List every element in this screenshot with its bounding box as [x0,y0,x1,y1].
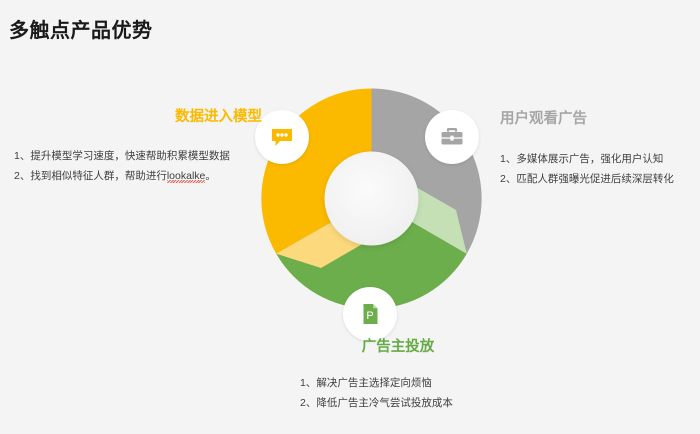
step-heading-advertiser-delivery: 广告主投放 [288,338,508,356]
donut-hole [325,152,419,246]
step-block-user-views-ad: 用户观看广告 1、多媒体展示广告，强化用户认知 2、匹配人群强曝光促进后续深层转… [500,110,700,189]
list-item: 2、匹配人群强曝光促进后续深层转化 [500,169,700,189]
list-item: 1、提升模型学习速度，快速帮助积累模型数据 [14,146,264,166]
step-list-data-into-model: 1、提升模型学习速度，快速帮助积累模型数据 2、找到相似特征人群，帮助进行loo… [14,146,264,186]
step-list-user-views-ad: 1、多媒体展示广告，强化用户认知 2、匹配人群强曝光促进后续深层转化 [500,149,700,189]
step-block-advertiser-delivery: 广告主投放 1、解决广告主选择定向烦恼 2、降低广告主冷气尝试投放成本 [288,338,508,413]
step-heading-user-views-ad: 用户观看广告 [500,110,700,128]
step-heading-data-into-model: 数据进入模型 [14,108,262,126]
list-item: 2、降低广告主冷气尝试投放成本 [300,393,508,413]
document-p-icon: P [357,301,383,327]
list-item: 2、找到相似特征人群，帮助进行lookalke。 [14,166,264,186]
briefcase-icon-badge[interactable] [425,110,479,164]
list-item: 1、解决广告主选择定向烦恼 [300,373,508,393]
list-item-text: 2、找到相似特征人群，帮助进行lookalke。 [14,170,216,182]
document-p-icon-badge[interactable]: P [343,287,397,341]
briefcase-icon [439,124,465,150]
list-item: 1、多媒体展示广告，强化用户认知 [500,149,700,169]
page-title: 多触点产品优势 [9,14,153,43]
slide-canvas: 多触点产品优势 [0,0,700,434]
svg-text:P: P [366,310,373,322]
spellcheck-underline: lookalke [167,170,206,182]
step-block-data-into-model: 数据进入模型 1、提升模型学习速度，快速帮助积累模型数据 2、找到相似特征人群，… [14,108,264,186]
chat-bubble-icon [269,124,295,150]
step-list-advertiser-delivery: 1、解决广告主选择定向烦恼 2、降低广告主冷气尝试投放成本 [288,373,508,413]
